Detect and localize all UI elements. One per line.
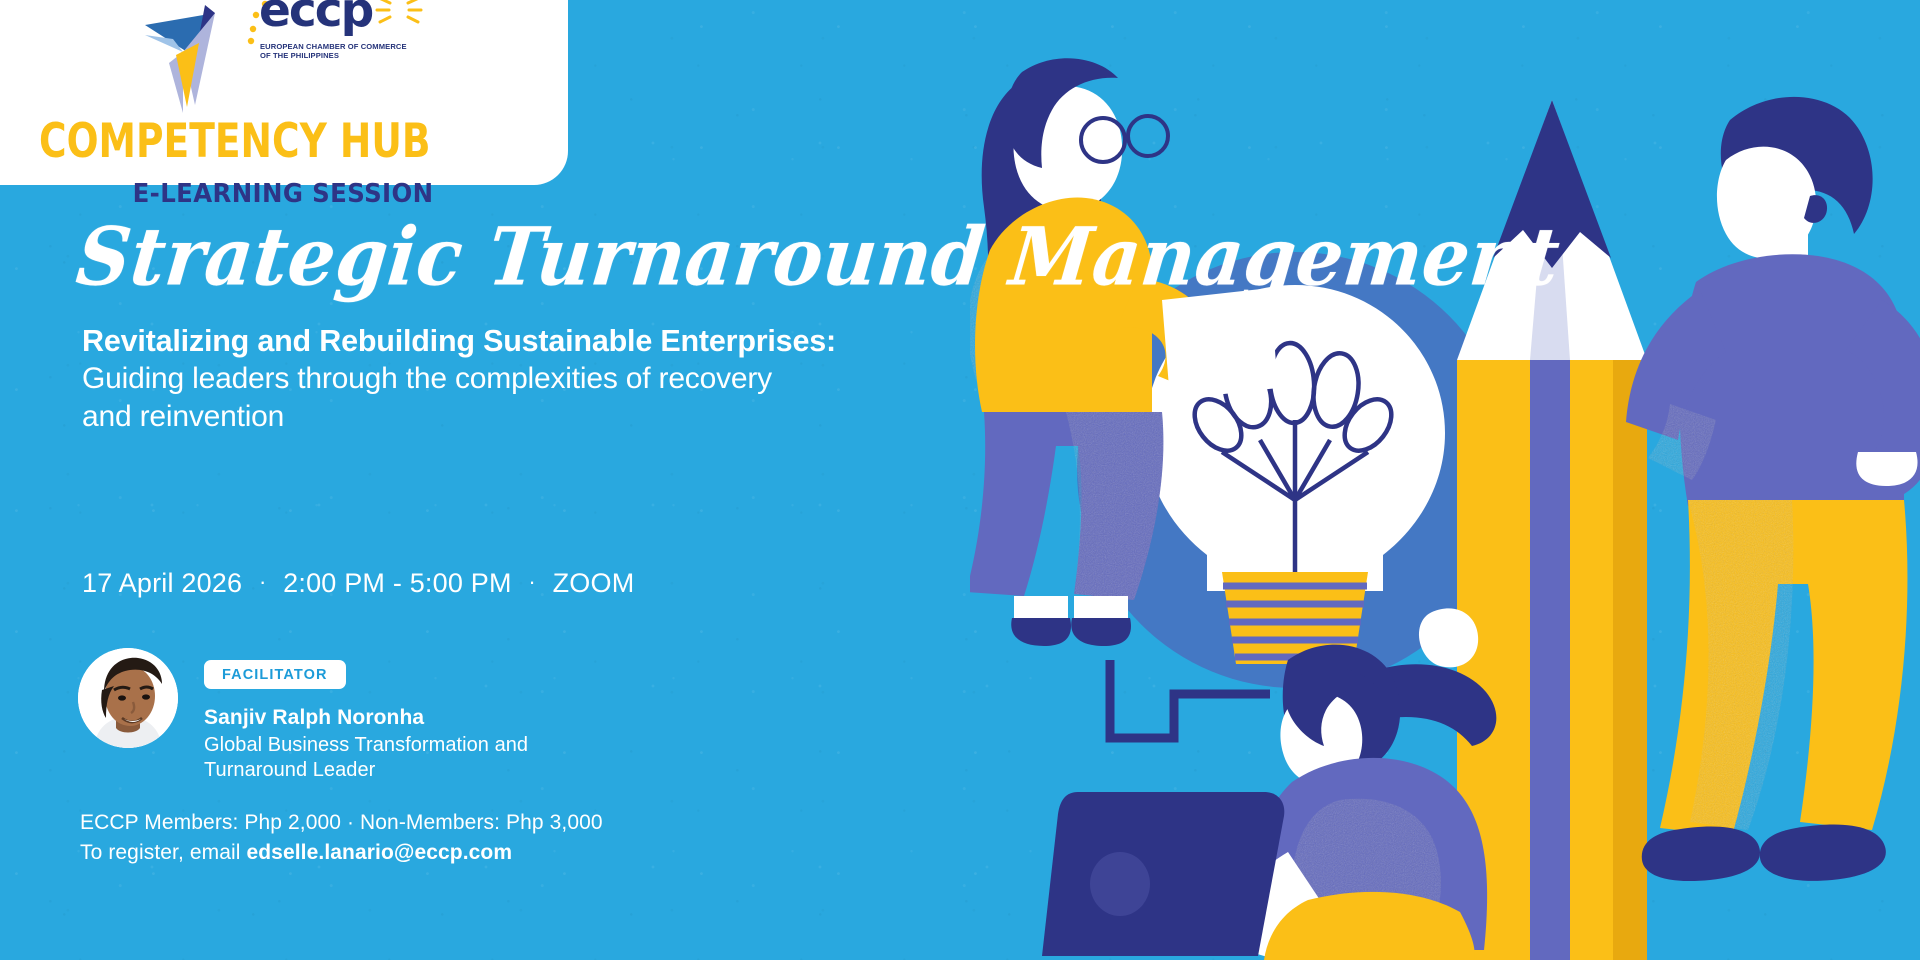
document-paper — [1162, 288, 1278, 400]
event-time: 2:00 PM - 5:00 PM — [283, 568, 512, 598]
register-prefix: To register, email — [80, 841, 246, 864]
eccp-logo-row: eccp EUROPEAN CHAMBER OF COMMERCE OF THE… — [143, 0, 423, 115]
facilitator-text: FACILITATOR Sanjiv Ralph Noronha Global … — [204, 648, 528, 783]
facilitator-role: Global Business Transformation and Turna… — [204, 733, 528, 783]
event-details-line: 17 April 2026 · 2:00 PM - 5:00 PM · ZOOM — [82, 567, 634, 601]
decorative-shapes — [1419, 608, 1478, 667]
facilitator-block: FACILITATOR Sanjiv Ralph Noronha Global … — [78, 648, 528, 783]
event-script-title: Strategic Turnaround Management — [72, 212, 1564, 303]
register-email[interactable]: edselle.lanario@eccp.com — [246, 841, 512, 864]
event-separator-1: · — [250, 569, 276, 594]
subtitle-line-1: Revitalizing and Rebuilding Sustainable … — [82, 322, 1012, 360]
register-line: To register, email edselle.lanario@eccp.… — [80, 838, 603, 868]
facilitator-badge: FACILITATOR — [204, 660, 346, 689]
promotional-banner: eccp EUROPEAN CHAMBER OF COMMERCE OF THE… — [0, 0, 1920, 960]
man-standing-figure — [1626, 97, 1920, 881]
session-type-label: E-LEARNING SESSION — [133, 179, 434, 209]
logo-lockup: eccp EUROPEAN CHAMBER OF COMMERCE OF THE… — [37, 0, 528, 209]
pricing-line: ECCP Members: Php 2,000 · Non-Members: P… — [80, 808, 603, 838]
event-date: 17 April 2026 — [82, 568, 242, 598]
event-platform: ZOOM — [553, 568, 635, 598]
facilitator-photo — [78, 648, 178, 748]
subtitle-block: Revitalizing and Rebuilding Sustainable … — [82, 322, 1012, 436]
facilitator-avatar — [78, 648, 178, 748]
eccp-wordmark: eccp — [259, 0, 423, 37]
competency-hub-title: COMPETENCY HUB — [39, 117, 431, 167]
paper-plane-logo-icon — [143, 0, 239, 115]
laptop-icon — [1042, 792, 1284, 956]
subtitle-line-2: Guiding leaders through the complexities… — [82, 360, 1012, 398]
eccp-logo-header-card: eccp EUROPEAN CHAMBER OF COMMERCE OF THE… — [0, 0, 568, 185]
eccp-mark: eccp — [243, 0, 423, 47]
subtitle-line-3: and reinvention — [82, 398, 1012, 436]
eccp-wordmark-block: eccp EUROPEAN CHAMBER OF COMMERCE OF THE… — [243, 0, 423, 60]
event-separator-2: · — [519, 569, 545, 594]
woman-seated-at-laptop-figure — [1042, 645, 1496, 960]
facilitator-name: Sanjiv Ralph Noronha — [204, 705, 528, 731]
footer-info: ECCP Members: Php 2,000 · Non-Members: P… — [80, 808, 603, 868]
illustration-artwork — [970, 0, 1920, 960]
